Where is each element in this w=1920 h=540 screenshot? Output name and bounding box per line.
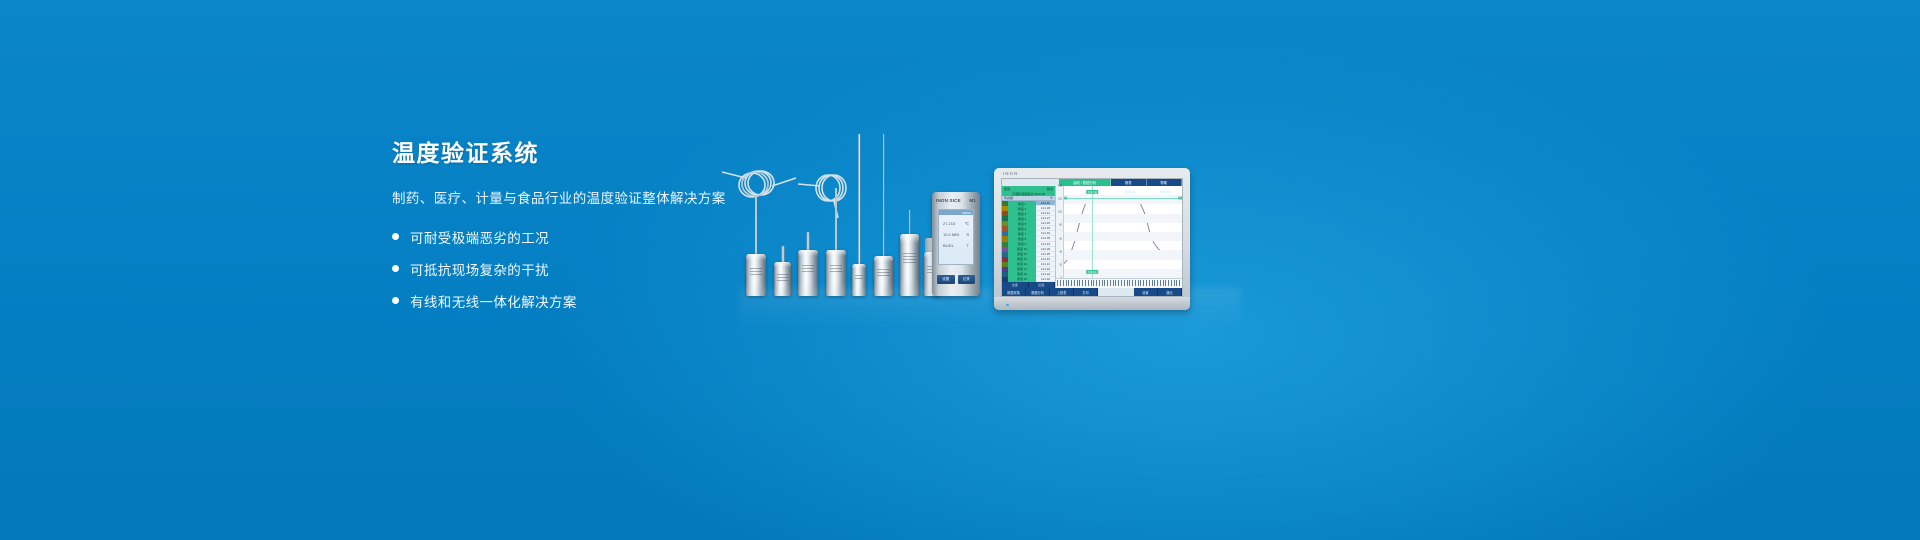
btn-print[interactable]: 打印	[1074, 288, 1098, 296]
probe-stem	[835, 188, 837, 250]
logger-reflection	[874, 283, 893, 296]
product-stage: INON SICE M1 MENU 27.215 ℃ 10.0 MIN S	[700, 110, 1260, 340]
x-tick	[1146, 280, 1147, 286]
handheld-key-setup[interactable]: 设置	[937, 275, 955, 284]
col-header-sensor: 传感器	[1004, 196, 1013, 200]
chart-grid-band	[1064, 195, 1182, 204]
handheld-brand: INON SICE	[936, 198, 961, 203]
x-tick	[1179, 280, 1180, 286]
x-tick	[1074, 280, 1075, 286]
btn-data-analysis[interactable]: 数据分析	[1026, 288, 1050, 296]
software-top-tabs[interactable]: 曲线 / 数据分析 报表 帮助	[1002, 179, 1182, 186]
feature-label: 有线和无线一体化解决方案	[410, 291, 577, 311]
x-tick	[1079, 280, 1080, 286]
x-tick	[1171, 280, 1172, 286]
chart-grid-band	[1064, 232, 1182, 241]
x-tick	[1088, 280, 1089, 286]
y-tick-label: 140	[1058, 185, 1062, 188]
handheld-menu-badge: MENU	[962, 211, 971, 215]
chart-grid-band	[1064, 250, 1182, 259]
x-tick	[1127, 280, 1128, 286]
cursor-handle-a[interactable]: A	[1064, 197, 1068, 200]
logger-unit	[900, 234, 919, 296]
bullet-dot-icon	[392, 265, 399, 272]
x-tick	[1091, 280, 1092, 286]
handheld-reading-unit: S	[966, 232, 969, 237]
logger-unit	[774, 262, 791, 296]
x-tick	[1115, 280, 1116, 286]
y-tick-label: 60	[1059, 237, 1062, 240]
probe-tip	[781, 246, 784, 262]
y-tick-label: 80	[1059, 224, 1062, 227]
handheld-reading-unit: ℃	[965, 221, 970, 226]
tab-help[interactable]: 帮助	[1147, 179, 1182, 186]
channel-table-rows: 通道 1 121.42 通道 2 121.38	[1002, 201, 1055, 282]
monitor-workstation: INON 曲线 / 数据分析 报表 帮助 通道	[994, 168, 1190, 310]
chart-phase-label: 灭菌阶段	[1125, 190, 1135, 194]
logger-reflection	[774, 284, 791, 296]
x-tick	[1121, 280, 1122, 286]
marker-hold-end[interactable]: 保温结束	[1087, 270, 1099, 274]
btn-data-acquisition[interactable]: 数据采集	[1002, 288, 1026, 296]
x-tick	[1068, 280, 1069, 286]
x-tick	[1118, 280, 1119, 286]
x-tick	[1066, 280, 1067, 286]
marker-hold-start[interactable]: 保温开始	[1087, 190, 1099, 194]
long-needle-probe	[883, 134, 885, 256]
handheld-reading-row: 10.0 MIN S	[939, 232, 973, 237]
temperature-chart: 020406080100120140 AB保温开始保温结束灭菌阶段降温阶段	[1056, 186, 1182, 288]
chart-x-axis-ticks	[1056, 278, 1182, 288]
x-tick	[1138, 280, 1139, 286]
plateau-reference-line	[1064, 198, 1182, 199]
bullet-dot-icon	[392, 233, 399, 240]
handheld-screen-titlebar: MENU	[939, 210, 973, 215]
software-screen: 曲线 / 数据分析 报表 帮助 通道 数值 灭菌柜温度验证 2024-08	[1001, 178, 1183, 297]
logger-unit	[874, 256, 893, 296]
chart-plot-area[interactable]: AB保温开始保温结束灭菌阶段降温阶段	[1064, 186, 1182, 278]
x-tick	[1149, 280, 1150, 286]
logger-reflection	[798, 282, 818, 296]
tab-curve-analysis[interactable]: 曲线 / 数据分析	[1059, 179, 1111, 186]
x-tick	[1163, 280, 1164, 286]
x-tick	[1154, 280, 1155, 286]
x-tick	[1174, 280, 1175, 286]
logger-unit	[852, 264, 866, 296]
handheld-reading-label: 27.215	[943, 221, 955, 226]
bullet-dot-icon	[392, 297, 399, 304]
x-tick	[1135, 280, 1136, 286]
handheld-reading-row: 27.215 ℃	[939, 221, 973, 226]
logger-reflection	[852, 285, 866, 296]
y-tick-label: 100	[1058, 211, 1062, 214]
top-tab-spacer	[1002, 179, 1059, 186]
y-tick-label: 20	[1059, 263, 1062, 266]
handheld-reading-label: 10.0 MIN	[943, 232, 959, 237]
x-tick	[1176, 280, 1177, 286]
x-tick	[1099, 280, 1100, 286]
probe-stem	[755, 196, 757, 254]
x-tick	[1071, 280, 1072, 286]
x-tick	[1168, 280, 1169, 286]
x-tick	[1057, 280, 1058, 286]
x-tick	[1102, 280, 1103, 286]
chart-y-axis: 020406080100120140	[1056, 186, 1064, 278]
x-tick	[1124, 280, 1125, 286]
chart-phase-label: 降温阶段	[1160, 190, 1170, 194]
feature-label: 可抵抗现场复杂的干扰	[410, 259, 549, 279]
feature-label: 可耐受极端恶劣的工况	[410, 227, 549, 247]
handheld-brand-row: INON SICE M1	[936, 198, 976, 203]
handheld-reading-unit: T	[967, 243, 969, 248]
chart-grid-band	[1064, 269, 1182, 278]
handheld-reading-row: BL/EL T	[939, 243, 973, 248]
logger-unit	[798, 250, 818, 296]
power-led-icon	[1006, 304, 1009, 307]
probe-antenna	[909, 210, 911, 234]
logger-unit	[826, 250, 846, 296]
col-header-unit: ℃	[1050, 196, 1053, 200]
handheld-screen: MENU 27.215 ℃ 10.0 MIN S BL/EL T	[938, 209, 974, 265]
logger-reflection	[746, 282, 766, 296]
chart-inner: 020406080100120140 AB保温开始保温结束灭菌阶段降温阶段	[1056, 186, 1182, 278]
product-photo-group: INON SICE M1 MENU 27.215 ℃ 10.0 MIN S	[700, 110, 1260, 340]
long-needle-probe	[858, 134, 860, 264]
x-tick	[1152, 280, 1153, 286]
monitor-brand: INON	[1003, 171, 1018, 176]
software-bottom-toolbar[interactable]: 数据采集 数据分析 上报表 打印 设置 退出	[1002, 288, 1182, 296]
x-tick	[1107, 280, 1108, 286]
x-tick	[1077, 280, 1078, 286]
probe-tip	[807, 232, 810, 250]
tab-report[interactable]: 报表	[1111, 179, 1146, 186]
btn-exit[interactable]: 退出	[1158, 288, 1182, 296]
x-tick	[1113, 280, 1114, 286]
x-tick	[1104, 280, 1105, 286]
software-body: 通道 数值 灭菌柜温度验证 2024-08 传感器 ℃	[1002, 186, 1182, 288]
btn-report[interactable]: 上报表	[1050, 288, 1074, 296]
x-tick	[1143, 280, 1144, 286]
x-tick	[1140, 280, 1141, 286]
x-tick	[1110, 280, 1111, 286]
x-tick	[1085, 280, 1086, 286]
x-tick	[1060, 280, 1061, 286]
channel-table[interactable]: 通道 数值 灭菌柜温度验证 2024-08 传感器 ℃	[1002, 186, 1056, 288]
logger-unit	[746, 254, 766, 296]
vertical-cursor-line[interactable]	[1092, 186, 1093, 278]
y-tick-label: 40	[1059, 250, 1062, 253]
handheld-reader[interactable]: INON SICE M1 MENU 27.215 ℃ 10.0 MIN S	[932, 192, 980, 296]
logger-reflection	[826, 282, 846, 296]
x-tick	[1157, 280, 1158, 286]
handheld-reading-label: BL/EL	[943, 243, 954, 248]
y-tick-label: 120	[1058, 198, 1062, 201]
channel-table-title-right: 数值	[1047, 187, 1053, 191]
x-tick	[1160, 280, 1161, 286]
x-tick	[1082, 280, 1083, 286]
monitor-bezel-foot	[994, 297, 1190, 310]
x-tick	[1063, 280, 1064, 286]
handheld-key-record[interactable]: 记录	[958, 275, 976, 284]
x-tick	[1165, 280, 1166, 286]
x-tick	[1132, 280, 1133, 286]
handheld-model: M1	[969, 198, 976, 203]
chart-grid-band	[1064, 214, 1182, 223]
cursor-handle-b[interactable]: B	[1178, 197, 1182, 200]
channel-table-title-left: 通道	[1004, 187, 1010, 191]
toolbar-gap	[1098, 288, 1134, 296]
x-tick	[1093, 280, 1094, 286]
hero-banner: 温度验证系统 制药、医疗、计量与食品行业的温度验证整体解决方案 可耐受极端恶劣的…	[0, 0, 1920, 540]
x-tick	[1129, 280, 1130, 286]
coiled-wire-icon	[722, 168, 808, 218]
x-tick	[1096, 280, 1097, 286]
logger-reflection	[900, 278, 919, 296]
handheld-keypad[interactable]: 设置 记录	[937, 275, 975, 284]
btn-settings[interactable]: 设置	[1134, 288, 1158, 296]
